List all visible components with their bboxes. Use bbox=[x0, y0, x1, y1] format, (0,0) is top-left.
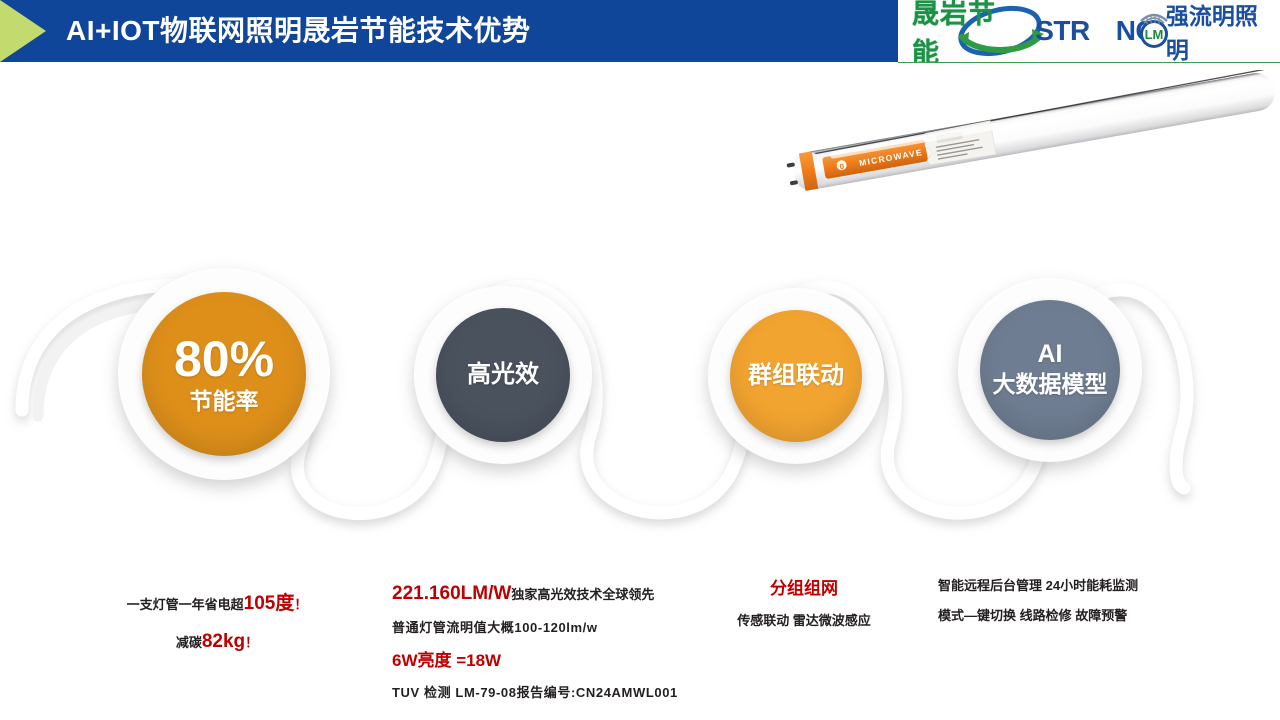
caption-line: 分组组网 bbox=[714, 578, 894, 599]
node-disc[interactable]: 高光效 bbox=[436, 308, 570, 442]
caption-text: 智能远程后台管理 24小时能耗监测 bbox=[938, 578, 1138, 593]
svg-text:LM: LM bbox=[1145, 27, 1164, 42]
logo-lm-badge-icon: LM bbox=[1134, 11, 1174, 51]
caption-line: 221.160LM/W独家高光效技术全球领先 bbox=[392, 582, 678, 606]
slide-root: AI+IOT物联网照明晟岩节能技术优势 晟岩节能 STR LM NG ® 强流明… bbox=[0, 0, 1280, 720]
caption-text: 独家高光效技术全球领先 bbox=[511, 587, 654, 602]
node-label: 群组联动 bbox=[748, 362, 844, 391]
feature-circles-row: 80% 节能率 高光效 群组联动 AI 大数据模型 bbox=[0, 220, 1280, 550]
feature-node-high-efficacy[interactable]: 高光效 bbox=[414, 286, 592, 464]
feature-node-ai-big-data[interactable]: AI 大数据模型 bbox=[958, 278, 1142, 462]
caption-column-group-linkage: 分组组网 传感联动 雷达微波感应 bbox=[714, 578, 894, 630]
caption-text: 一支灯管一年省电超 bbox=[127, 597, 244, 612]
caption-line: 普通灯管流明值大概100-120lm/w bbox=[392, 620, 678, 636]
brand-logo: 晟岩节能 STR LM NG ® 强流明照明 bbox=[898, 0, 1280, 63]
caption-text: TUV 检测 LM-79-08报告编号:CN24AMWL001 bbox=[392, 685, 678, 700]
caption-highlight: 105度 bbox=[244, 593, 295, 614]
caption-line: 模式—键切换 线路检修 故障预警 bbox=[938, 608, 1138, 624]
led-tube-illustration-icon: 0 MICROWAVE bbox=[770, 70, 1280, 210]
caption-column-ai-big-data: 智能远程后台管理 24小时能耗监测 模式—键切换 线路检修 故障预警 bbox=[938, 578, 1138, 625]
node-value: 80% bbox=[174, 334, 274, 384]
caption-text: 模式—键切换 线路检修 故障预警 bbox=[938, 608, 1127, 623]
logo-company-name: 晟岩节能 bbox=[912, 0, 1023, 63]
caption-line: 传感联动 雷达微波感应 bbox=[714, 613, 894, 629]
logo-brand-cn: 强流明照明 bbox=[1166, 0, 1280, 63]
feature-node-group-linkage[interactable]: 群组联动 bbox=[708, 288, 884, 464]
caption-text: 减碳 bbox=[176, 635, 202, 650]
caption-line: 减碳82kg！ bbox=[112, 630, 322, 654]
caption-line: 智能远程后台管理 24小时能耗监测 bbox=[938, 578, 1138, 594]
caption-suffix: ！ bbox=[294, 597, 307, 612]
node-disc[interactable]: AI 大数据模型 bbox=[980, 300, 1120, 440]
caption-column-energy-saving: 一支灯管一年省电超105度！ 减碳82kg！ bbox=[112, 592, 322, 654]
logo-brand-en: STR bbox=[1035, 15, 1090, 47]
node-disc[interactable]: 80% 节能率 bbox=[142, 292, 306, 456]
node-label: 节能率 bbox=[190, 388, 259, 414]
caption-column-high-efficacy: 221.160LM/W独家高光效技术全球领先 普通灯管流明值大概100-120l… bbox=[392, 582, 678, 702]
caption-highlight: 82kg bbox=[202, 631, 245, 652]
page-title: AI+IOT物联网照明晟岩节能技术优势 bbox=[66, 0, 531, 62]
node-label: 高光效 bbox=[467, 361, 539, 390]
node-disc[interactable]: 群组联动 bbox=[730, 310, 862, 442]
caption-highlight: 分组组网 bbox=[770, 579, 838, 598]
caption-highlight: 6W亮度 =18W bbox=[392, 651, 501, 670]
caption-line: 一支灯管一年省电超105度！ bbox=[112, 592, 322, 616]
caption-line: TUV 检测 LM-79-08报告编号:CN24AMWL001 bbox=[392, 685, 678, 701]
caption-suffix: ！ bbox=[245, 635, 258, 650]
caption-text: 普通灯管流明值大概100-120lm/w bbox=[392, 620, 598, 635]
feature-node-energy-saving[interactable]: 80% 节能率 bbox=[118, 268, 330, 480]
node-label-primary: AI bbox=[1038, 341, 1063, 369]
product-photo-led-tube: 0 MICROWAVE bbox=[770, 70, 1280, 210]
caption-highlight: 221.160LM/W bbox=[392, 583, 511, 604]
caption-text: 传感联动 雷达微波感应 bbox=[737, 613, 871, 628]
caption-line: 6W亮度 =18W bbox=[392, 650, 678, 671]
node-label-secondary: 大数据模型 bbox=[993, 371, 1108, 399]
